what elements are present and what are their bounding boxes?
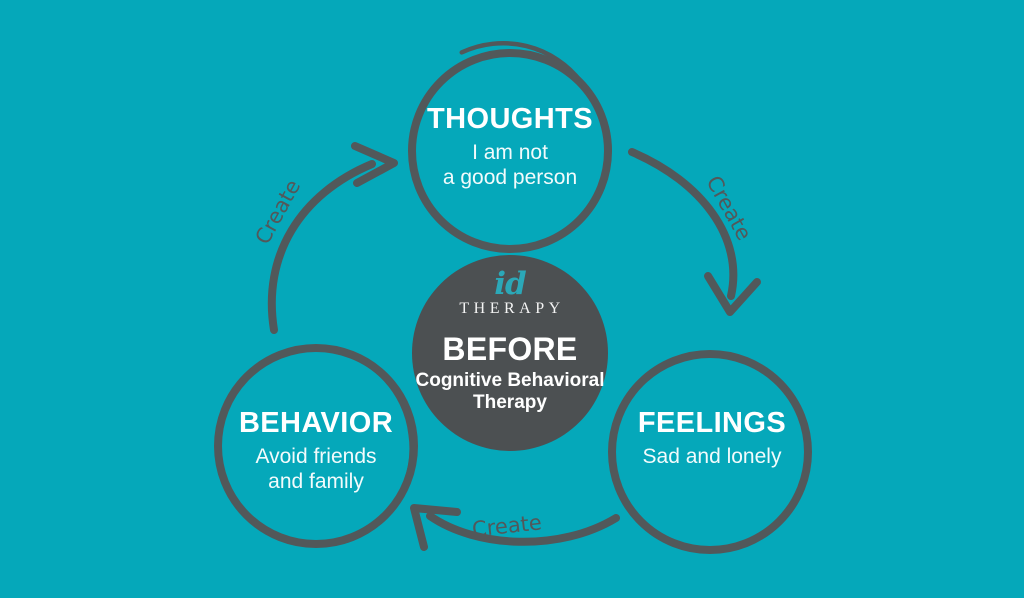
diagram-canvas: [0, 0, 1024, 598]
cbt-cycle-diagram: THOUGHTS I am not a good person FEELINGS…: [0, 0, 1024, 598]
center-hub-disc: [412, 255, 608, 451]
